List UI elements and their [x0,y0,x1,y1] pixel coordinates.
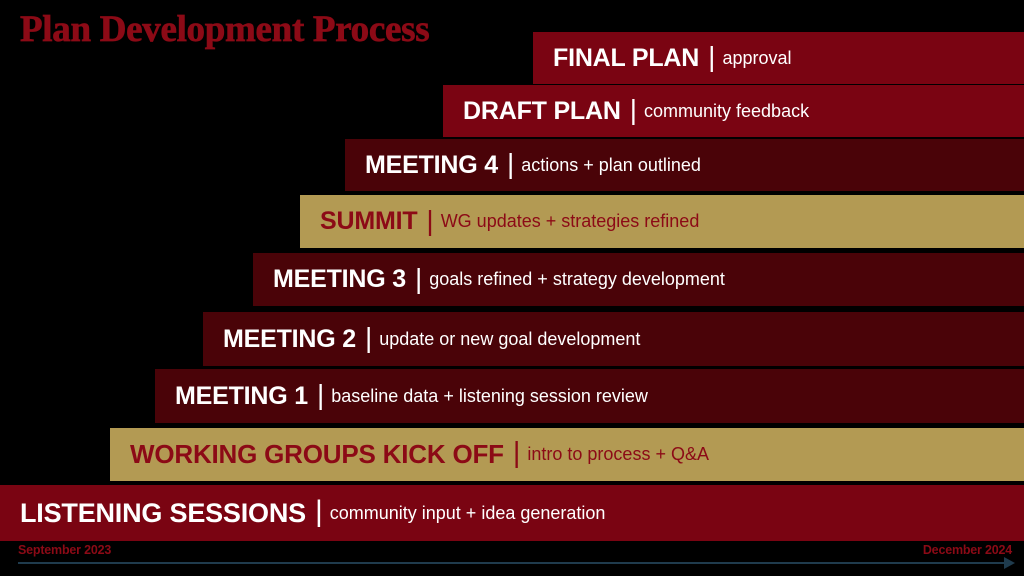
process-step-label: MEETING 1 [175,382,308,411]
process-step-separator: | [415,263,422,295]
process-step-label: MEETING 4 [365,151,498,180]
process-step-separator: | [630,94,637,126]
process-step-bar: MEETING 1|baseline data + listening sess… [155,369,1024,423]
process-step-bar: WORKING GROUPS KICK OFF|intro to process… [110,428,1024,481]
process-step-description: community input + idea generation [330,503,606,524]
process-step-bar: MEETING 4|actions + plan outlined [345,139,1024,191]
process-step-bar: SUMMIT|WG updates + strategies refined [300,195,1024,248]
process-step-description: actions + plan outlined [521,155,701,176]
process-step-description: intro to process + Q&A [527,444,709,465]
timeline-arrow-head [1004,557,1015,569]
process-step-bar: DRAFT PLAN|community feedback [443,85,1024,137]
timeline-end-date: December 2024 [923,543,1012,557]
process-step-label: MEETING 3 [273,265,406,294]
process-step-separator: | [315,495,323,529]
process-step-separator: | [507,148,514,180]
process-step-separator: | [365,322,372,354]
process-step-separator: | [317,379,324,411]
process-step-label: DRAFT PLAN [463,97,621,126]
process-step-separator: | [708,41,715,73]
process-step-separator: | [426,205,433,237]
process-step-description: update or new goal development [379,329,640,350]
process-step-description: goals refined + strategy development [429,269,725,290]
process-step-bar: FINAL PLAN|approval [533,32,1024,84]
process-step-label: LISTENING SESSIONS [20,498,306,529]
process-step-bar: LISTENING SESSIONS|community input + ide… [0,485,1024,541]
process-step-label: WORKING GROUPS KICK OFF [130,439,504,470]
page-title: Plan Development Process [20,8,429,51]
process-step-bar: MEETING 2|update or new goal development [203,312,1024,366]
process-step-description: approval [722,48,791,69]
process-step-label: MEETING 2 [223,325,356,354]
process-step-separator: | [513,437,521,470]
timeline-start-date: September 2023 [18,543,111,557]
process-step-label: SUMMIT [320,207,417,236]
process-step-description: WG updates + strategies refined [441,211,700,232]
process-step-label: FINAL PLAN [553,44,699,73]
slide-canvas: Plan Development Process FINAL PLAN|appr… [0,0,1024,576]
process-step-description: community feedback [644,101,809,122]
timeline-axis-line [18,562,1006,564]
process-step-description: baseline data + listening session review [331,386,648,407]
process-step-bar: MEETING 3|goals refined + strategy devel… [253,253,1024,306]
